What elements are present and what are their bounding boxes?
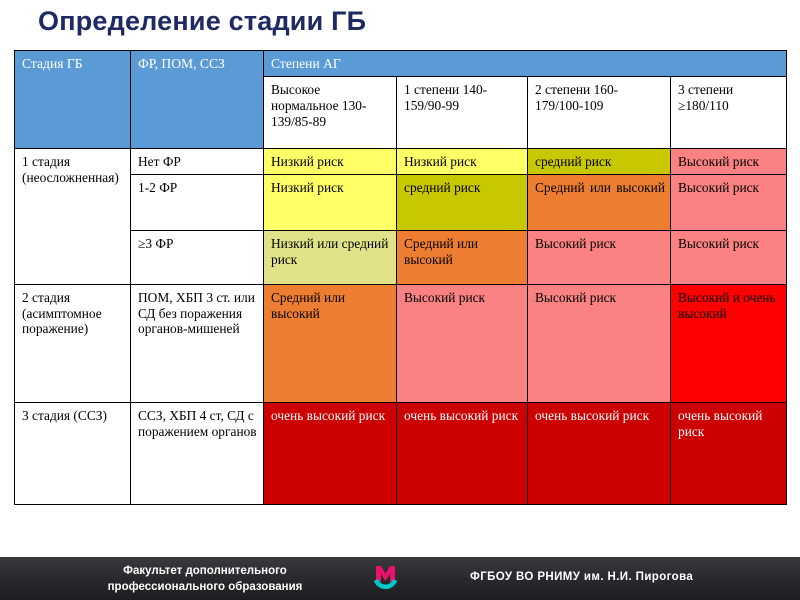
factor-label-1-3: ≥3 ФР [131,230,264,284]
risk-cell-3-1-1: очень высокий риск [264,402,397,504]
table-row: ≥3 ФР Низкий или средний риск Средний ил… [15,230,787,284]
logo-letter-m-icon [376,566,395,582]
footer-faculty-line-1: Факультет дополнительного [60,564,350,580]
risk-cell-3-1-2: очень высокий риск [397,402,528,504]
risk-cell-1-3-3: Высокий риск [528,230,671,284]
risk-cell-2-1-4: Высокий и очень высокий [671,284,787,402]
risk-cell-1-3-2: Средний или высокий [397,230,528,284]
header-degree-normal-high: Высокое нормальное 130-139/85-89 [264,77,397,149]
factor-label-3-1: ССЗ, ХБП 4 ст, СД с поражением органов [131,402,264,504]
risk-cell-2-1-1: Средний или высокий [264,284,397,402]
header-degree-3: 3 степени ≥180/110 [671,77,787,149]
header-degree-1: 1 степени 140-159/90-99 [397,77,528,149]
factor-label-1-2: 1-2 ФР [131,174,264,230]
logo-smile-arc-icon [376,580,395,587]
stage-label-1: 1 стадия (неосложненная) [15,149,131,285]
risk-cell-1-1-1: Низкий риск [264,149,397,175]
risk-cell-1-2-3: Средний или высокий [528,174,671,230]
risk-cell-1-1-4: Высокий риск [671,149,787,175]
footer-university-name: ФГБОУ ВО РНИМУ им. Н.И. Пирогова [470,571,693,583]
risk-cell-1-2-4: Высокий риск [671,174,787,230]
risk-stratification-table: Стадия ГБ ФР, ПОМ, ССЗ Степени АГ Высоко… [14,50,787,505]
risk-cell-2-1-2: Высокий риск [397,284,528,402]
table-row: 2 стадия (асимптомное поражение) ПОМ, ХБ… [15,284,787,402]
risk-cell-1-3-1: Низкий или средний риск [264,230,397,284]
footer-bar: Факультет дополнительного профессиональн… [0,557,800,600]
university-logo [368,562,412,596]
stage-label-3: 3 стадия (ССЗ) [15,402,131,504]
table-row: 1 стадия (неосложненная) Нет ФР Низкий р… [15,149,787,175]
risk-cell-1-1-3: средний риск [528,149,671,175]
risk-cell-1-3-4: Высокий риск [671,230,787,284]
footer-faculty-line-2: профессионального образования [60,580,350,596]
risk-cell-1-1-2: Низкий риск [397,149,528,175]
risk-cell-3-1-3: очень высокий риск [528,402,671,504]
risk-cell-3-1-4: очень высокий риск [671,402,787,504]
header-stage: Стадия ГБ [15,51,131,149]
header-degree-2: 2 степени 160-179/100-109 [528,77,671,149]
factor-label-1-1: Нет ФР [131,149,264,175]
table-header-row-1: Стадия ГБ ФР, ПОМ, ССЗ Степени АГ [15,51,787,77]
risk-cell-1-2-2: средний риск [397,174,528,230]
table-row: 3 стадия (ССЗ) ССЗ, ХБП 4 ст, СД с пораж… [15,402,787,504]
header-factors: ФР, ПОМ, ССЗ [131,51,264,149]
table-row: 1-2 ФР Низкий риск средний риск Средний … [15,174,787,230]
page-title: Определение стадии ГБ [38,6,366,37]
risk-cell-1-2-1: Низкий риск [264,174,397,230]
footer-faculty-name: Факультет дополнительного профессиональн… [60,564,350,595]
header-degrees: Степени АГ [264,51,787,77]
stage-label-2: 2 стадия (асимптомное поражение) [15,284,131,402]
risk-cell-2-1-3: Высокий риск [528,284,671,402]
factor-label-2-1: ПОМ, ХБП 3 ст. или СД без поражения орга… [131,284,264,402]
